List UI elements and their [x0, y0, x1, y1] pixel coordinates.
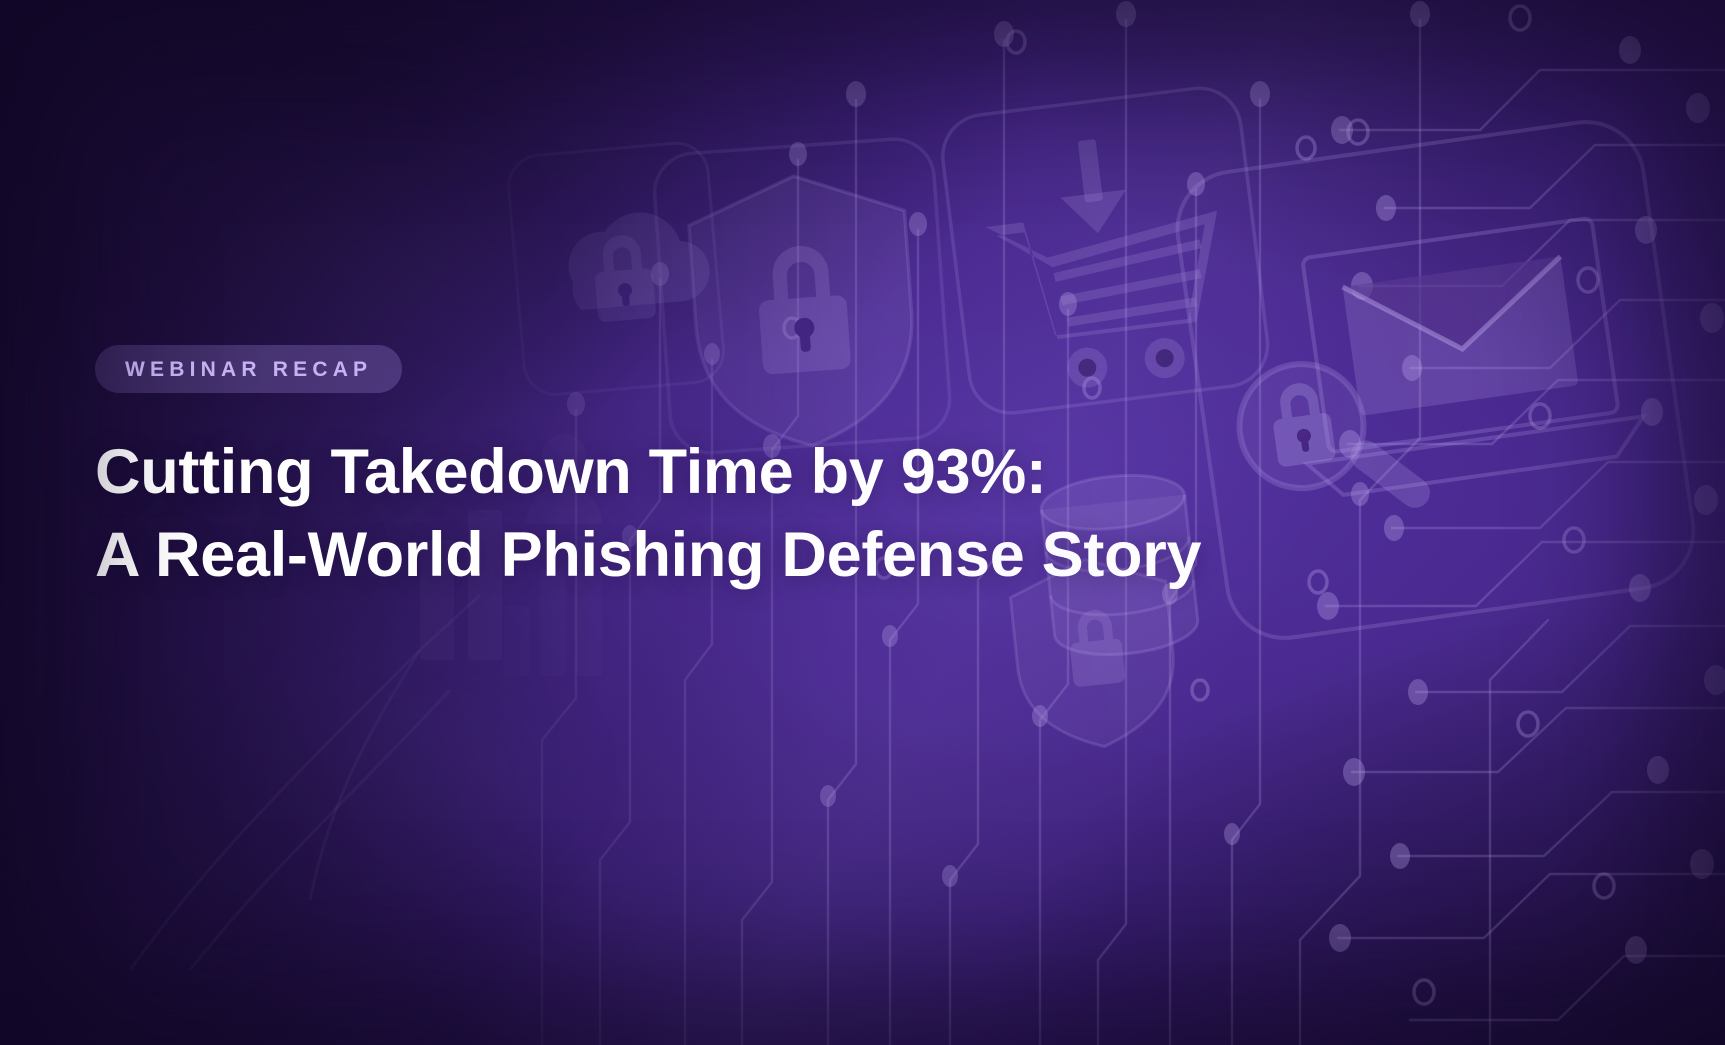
webinar-recap-hero-banner: WEBINAR RECAP Cutting Takedown Time by 9… — [0, 0, 1725, 1045]
background-vignette — [0, 0, 1725, 1045]
